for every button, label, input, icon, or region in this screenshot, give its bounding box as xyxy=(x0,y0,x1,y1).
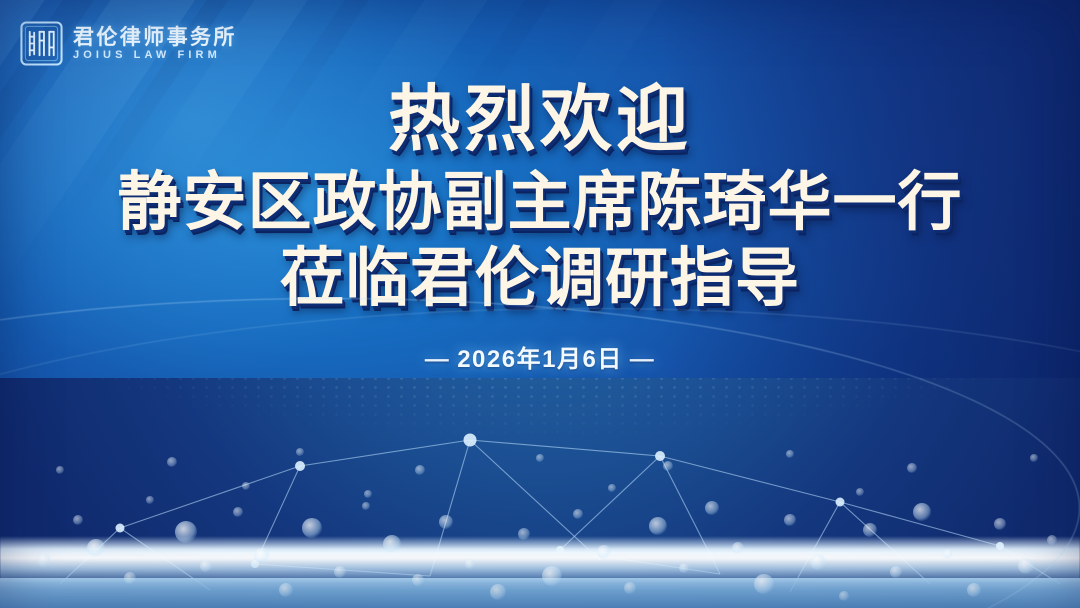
bokeh-dot xyxy=(536,454,544,462)
bokeh-dot xyxy=(994,518,1006,530)
bokeh-dot xyxy=(200,560,212,572)
bokeh-dot xyxy=(732,542,744,554)
bokeh-dot xyxy=(573,509,583,519)
light-arc-1 xyxy=(0,298,1080,608)
bokeh-dot xyxy=(334,566,346,578)
bokeh-dot xyxy=(146,496,154,504)
bokeh-dot xyxy=(784,514,796,526)
date-dash-left: — xyxy=(418,346,458,374)
bokeh-dot xyxy=(839,591,849,601)
headline-line-3: 莅临君伦调研指导 xyxy=(0,243,1080,315)
brand-logo: 君伦律师事务所 JOIUS LAW FIRM xyxy=(19,20,237,67)
headline-line-1: 热烈欢迎 xyxy=(0,84,1080,157)
bokeh-dot xyxy=(624,582,636,594)
bokeh-dot xyxy=(890,566,902,578)
event-date: —2026年1月6日— xyxy=(0,339,1080,374)
bokeh-dot xyxy=(649,517,667,535)
frame-vignette xyxy=(0,0,1080,608)
bokeh-dot xyxy=(242,482,250,490)
globe-rim-glow xyxy=(0,378,1080,608)
globe-dot-grid xyxy=(0,378,1080,608)
bokeh-dot xyxy=(856,488,864,496)
diagonal-light-streaks xyxy=(0,0,1080,608)
bokeh-dot xyxy=(412,574,424,586)
brand-name-cn: 君伦律师事务所 xyxy=(73,27,237,48)
bokeh-dot xyxy=(415,465,425,475)
right-vignette xyxy=(660,0,1080,608)
bokeh-dot xyxy=(679,563,689,573)
bokeh-dot xyxy=(439,515,453,529)
top-right-shade xyxy=(640,0,1080,400)
bokeh-dot xyxy=(597,545,611,559)
bokeh-dot xyxy=(124,572,136,584)
bokeh-dot xyxy=(518,528,530,540)
bokeh-dot xyxy=(663,461,673,471)
welcome-banner: 君伦律师事务所 JOIUS LAW FIRM 热烈欢迎 静安区政协副主席陈琦华一… xyxy=(0,0,1080,608)
bokeh-dot xyxy=(56,466,64,474)
bokeh-dot xyxy=(254,548,270,564)
bokeh-dot xyxy=(810,554,826,570)
bokeh-dot xyxy=(87,539,105,557)
bokeh-particles xyxy=(0,0,1080,608)
bokeh-dot xyxy=(167,457,177,467)
globe-sphere xyxy=(0,378,1080,608)
horizon-core-line xyxy=(0,551,1080,556)
date-text: 2026年1月6日 xyxy=(457,346,623,373)
bokeh-dot xyxy=(913,503,931,521)
bokeh-dot xyxy=(279,583,293,597)
bokeh-dot xyxy=(705,501,719,515)
bokeh-dot xyxy=(465,559,475,569)
bokeh-dot xyxy=(37,553,51,567)
headline-line-2: 静安区政协副主席陈琦华一行 xyxy=(0,167,1080,239)
bokeh-dot xyxy=(943,549,953,559)
network-globe-icon xyxy=(0,378,1080,608)
bokeh-dot xyxy=(1018,558,1034,574)
bokeh-dot xyxy=(73,515,83,525)
horizon-glow-icon xyxy=(0,536,1080,582)
bokeh-dot xyxy=(362,502,370,510)
bokeh-dot xyxy=(907,463,917,473)
bokeh-dot xyxy=(302,518,322,538)
bokeh-dot xyxy=(754,574,774,594)
bokeh-dot xyxy=(1030,454,1038,462)
headline-block: 热烈欢迎 静安区政协副主席陈琦华一行 莅临君伦调研指导 —2026年1月6日— xyxy=(0,84,1080,374)
bokeh-dot xyxy=(608,484,616,492)
bokeh-dot xyxy=(296,448,304,456)
bokeh-dot xyxy=(490,584,506,600)
date-dash-right: — xyxy=(623,346,663,374)
network-connections xyxy=(0,378,1080,608)
horizon-foreground xyxy=(0,578,1080,608)
bokeh-dot xyxy=(542,566,562,586)
bokeh-dot xyxy=(863,523,877,537)
bokeh-dot xyxy=(364,490,372,498)
bokeh-dot xyxy=(1047,535,1057,545)
brand-wordmark: 君伦律师事务所 JOIUS LAW FIRM xyxy=(73,27,237,61)
bokeh-dot xyxy=(383,535,401,553)
bokeh-dot xyxy=(233,507,243,517)
light-arc-2 xyxy=(0,308,1080,608)
bokeh-dot xyxy=(967,583,981,597)
bokeh-dot xyxy=(786,450,794,458)
bokeh-dot xyxy=(175,521,197,543)
joius-seal-logo-icon xyxy=(19,20,64,67)
brand-name-en: JOIUS LAW FIRM xyxy=(73,50,237,61)
